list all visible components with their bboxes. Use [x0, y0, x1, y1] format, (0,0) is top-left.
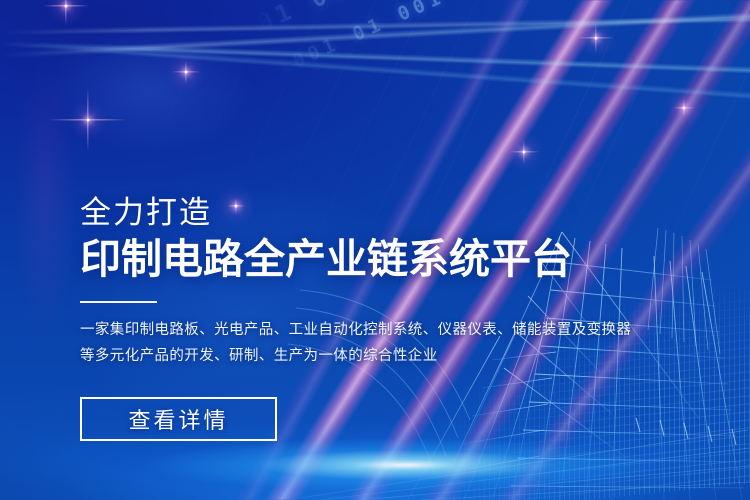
- hero-content: 全力打造 印制电路全产业链系统平台 一家集印制电路板、光电产品、工业自动化控制系…: [80, 196, 680, 441]
- sparkle-star-1: [43, 0, 89, 29]
- star-core: [185, 71, 188, 74]
- star-ray-horizontal: [43, 5, 89, 6]
- hero-banner: 01 001 01 001 1001 01 0 1001 01 1001 01 …: [0, 0, 750, 500]
- star-core: [683, 107, 686, 110]
- star-core: [65, 5, 68, 8]
- sparkle-star-2: [172, 58, 200, 86]
- star-ray-vertical: [683, 99, 684, 117]
- hero-headline: 印制电路全产业链系统平台: [80, 235, 680, 283]
- star-core: [87, 119, 90, 122]
- star-ray-horizontal: [673, 107, 695, 108]
- binary-row: 1001 01 001 1 01 0011 001 01 1001 01 01: [275, 0, 750, 78]
- star-ray-horizontal: [578, 37, 614, 38]
- sparkle-star-3: [49, 81, 127, 159]
- star-ray-horizontal: [172, 71, 200, 72]
- hero-description-line-1: 一家集印制电路板、光电产品、工业自动化控制系统、仪器仪表、储能装置及变换器: [80, 317, 680, 343]
- binary-row: 01 0011 001 01 1 001 01 01 0011 01 1 001: [254, 0, 750, 35]
- sparkle-star-4: [578, 20, 614, 56]
- star-ray-vertical: [65, 0, 66, 25]
- hero-divider: [80, 301, 157, 303]
- star-ray-horizontal: [49, 119, 127, 120]
- star-core: [595, 37, 598, 40]
- star-ray-vertical: [595, 23, 596, 53]
- hero-description-line-2: 等多元化产品的开发、研制、生产为一体的综合性企业: [80, 343, 680, 369]
- star-ray-vertical: [87, 88, 88, 152]
- sparkle-star-6: [673, 97, 695, 119]
- star-ray-vertical: [185, 61, 186, 84]
- view-details-button[interactable]: 查看详情: [80, 397, 277, 441]
- star-ray-horizontal: [509, 151, 539, 152]
- sparkle-star-5: [509, 137, 539, 167]
- hero-eyebrow: 全力打造: [80, 196, 680, 231]
- star-ray-vertical: [523, 140, 524, 165]
- star-core: [523, 151, 526, 154]
